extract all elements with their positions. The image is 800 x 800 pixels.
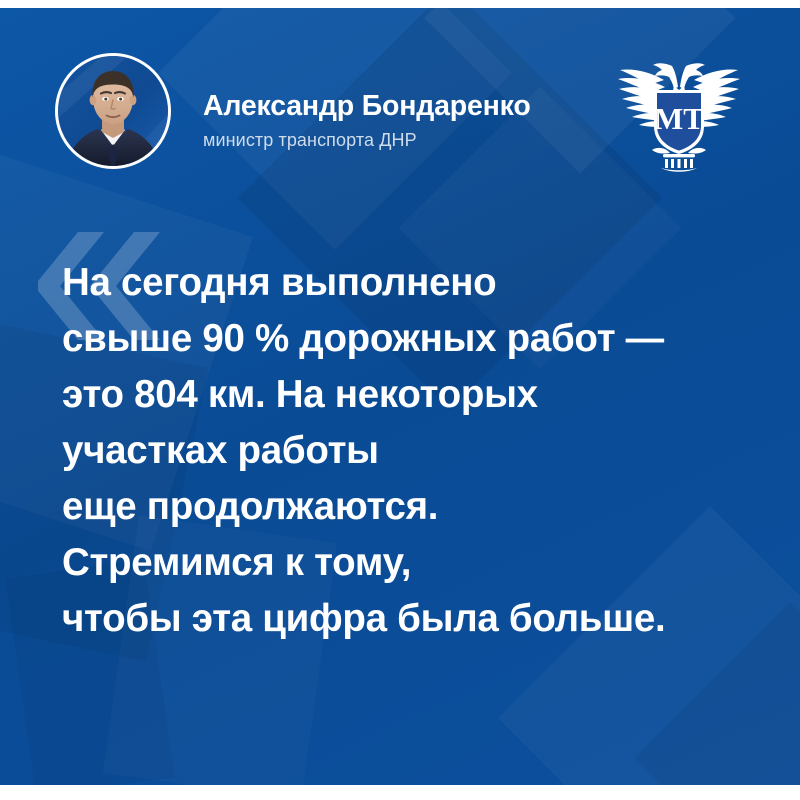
quote-line: это 804 км. На некоторых <box>62 367 774 423</box>
quote-line: чтобы эта цифра была больше. <box>62 591 774 647</box>
avatar <box>55 53 171 169</box>
card-canvas: Александр Бондаренко министр транспорта … <box>0 8 800 785</box>
quote-line: На сегодня выполнено <box>62 255 774 311</box>
quote-text: На сегодня выполнено свыше 90 % дорожных… <box>62 255 774 647</box>
quote-line: участках работы <box>62 423 774 479</box>
quote-card: Александр Бондаренко министр транспорта … <box>0 0 800 800</box>
person-name: Александр Бондаренко <box>203 90 531 123</box>
person-role: министр транспорта ДНР <box>203 130 417 151</box>
emblem-shield-text: MT <box>654 101 704 136</box>
quote-line: свыше 90 % дорожных работ — <box>62 311 774 367</box>
card-header: Александр Бондаренко министр транспорта … <box>0 8 800 208</box>
portrait-photo-icon <box>58 56 168 166</box>
quote-line: еще продолжаются. <box>62 479 774 535</box>
double-headed-eagle-emblem-icon: MT <box>608 50 750 178</box>
quote-line: Стремимся к тому, <box>62 535 774 591</box>
